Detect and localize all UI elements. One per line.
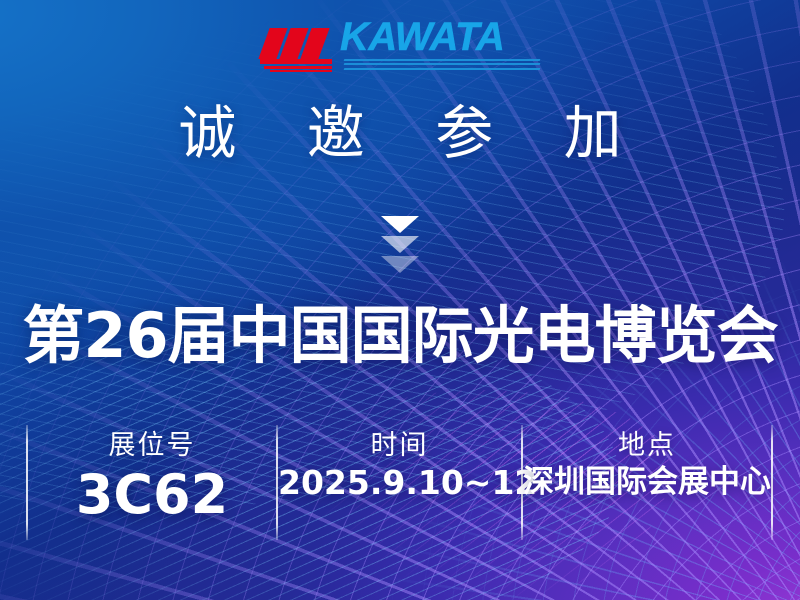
invite-headline: 诚 邀 参 加 xyxy=(0,104,800,162)
event-details-strip: 展位号 3C62 时间 2025.9.10~12 地点 深圳国际会展中心 xyxy=(0,425,800,543)
booth-number-block: 展位号 3C62 xyxy=(28,429,276,524)
brand-wordmark: KAWATA xyxy=(340,17,540,73)
event-venue-block: 地点 深圳国际会展中心 xyxy=(523,429,771,499)
event-invitation-poster: KAWATA 诚 邀 参 加 第26届中国国际光电博览会 展位号 3C62 时间… xyxy=(0,0,800,600)
brand-wordmark-text: KAWATA xyxy=(340,17,540,57)
event-date-block: 时间 2025.9.10~12 xyxy=(278,429,521,501)
kawata-chevrons-mark-icon xyxy=(260,28,334,72)
event-date-label: 时间 xyxy=(278,429,521,463)
event-venue-label: 地点 xyxy=(523,429,771,463)
booth-number-value: 3C62 xyxy=(28,465,276,524)
event-venue-value: 深圳国际会展中心 xyxy=(523,465,771,499)
event-date-value: 2025.9.10~12 xyxy=(278,465,521,501)
triple-down-arrow-icon xyxy=(0,216,800,273)
divider-line-4 xyxy=(771,425,773,540)
event-title: 第26届中国国际光电博览会 xyxy=(0,305,800,367)
brand-logo: KAWATA xyxy=(0,24,800,72)
booth-number-label: 展位号 xyxy=(28,429,276,463)
brand-wordmark-underlines-icon xyxy=(340,59,540,70)
